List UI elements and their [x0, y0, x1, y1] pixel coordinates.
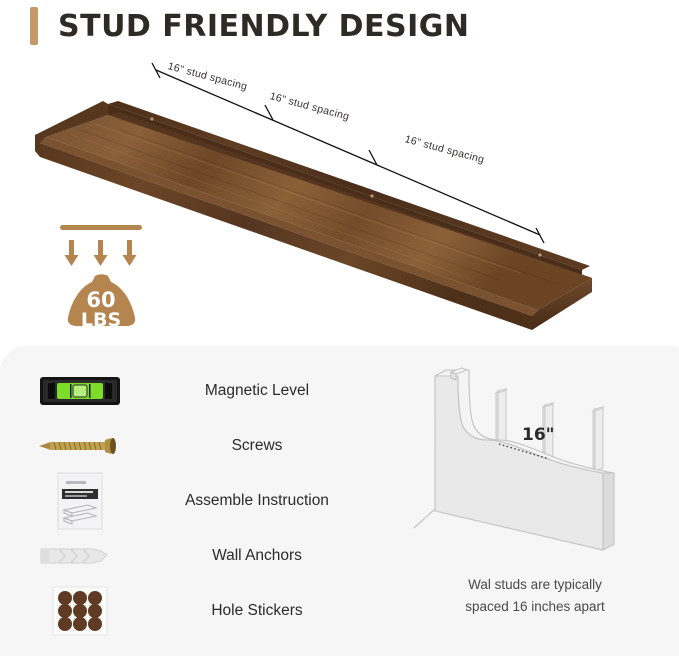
screw-hole	[150, 117, 153, 120]
wall-stud-diagram: 16" Wal studs are typically spaced 16 in…	[400, 356, 670, 646]
weight-capacity-badge: 60 LBS	[48, 218, 154, 330]
instruction-sheet-icon	[30, 472, 130, 530]
caption-line-1: Wal studs are typically	[400, 574, 670, 596]
stud-diagram-caption: Wal studs are typically spaced 16 inches…	[400, 574, 670, 618]
drywall-cutaway	[435, 368, 614, 550]
list-item: Screws	[30, 419, 390, 473]
floor-line	[414, 508, 436, 528]
screw-hole	[370, 194, 373, 197]
stud-spacing-measure-label: 16"	[522, 425, 555, 445]
title-accent-bar	[30, 7, 38, 45]
accessories-card: Magnetic Level Sc	[0, 346, 679, 656]
page-header: STUD FRIENDLY DESIGN	[0, 0, 679, 52]
screw-hole	[538, 253, 541, 256]
load-arrows-icon	[60, 225, 142, 266]
accessory-label: Assemble Instruction	[130, 492, 390, 510]
caption-line-2: spaced 16 inches apart	[400, 596, 670, 618]
wall-anchor-icon	[30, 542, 130, 570]
weight-unit: LBS	[81, 309, 121, 330]
list-item: Wall Anchors	[30, 529, 390, 583]
list-item: Assemble Instruction	[30, 474, 390, 528]
list-item: Magnetic Level	[30, 364, 390, 418]
accessory-list: Magnetic Level Sc	[30, 364, 390, 639]
accessory-label: Magnetic Level	[130, 382, 390, 400]
accessory-label: Hole Stickers	[130, 602, 390, 620]
magnetic-level-icon	[30, 374, 130, 408]
list-item: Hole Stickers	[30, 584, 390, 638]
accessory-label: Screws	[130, 437, 390, 455]
page-title: STUD FRIENDLY DESIGN	[58, 9, 470, 44]
hole-sticker-sheet-icon	[30, 586, 130, 636]
screw-icon	[30, 434, 130, 458]
accessory-label: Wall Anchors	[130, 547, 390, 565]
